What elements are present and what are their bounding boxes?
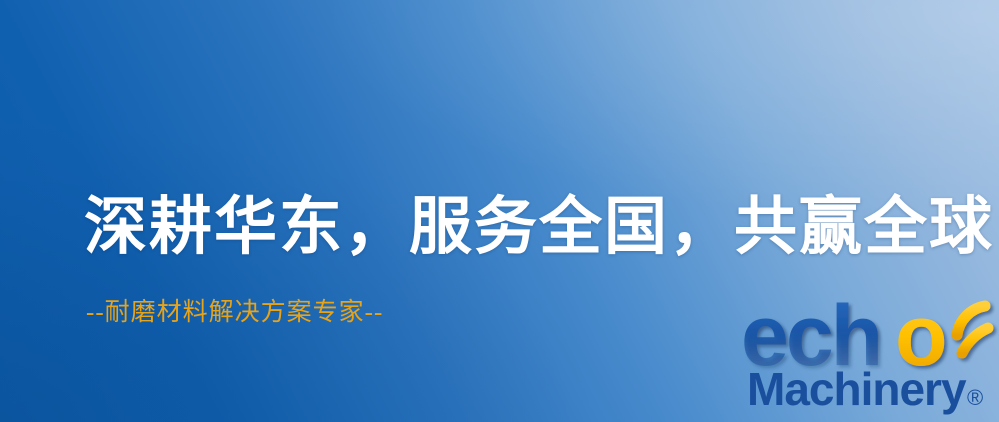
- promo-banner: 深耕华东，服务全国，共赢全球 --耐磨材料解决方案专家--: [0, 0, 999, 422]
- banner-headline: 深耕华东，服务全国，共赢全球: [84, 194, 994, 260]
- banner-subtitle: --耐磨材料解决方案专家--: [86, 292, 383, 328]
- signal-waves-icon: [957, 306, 988, 353]
- registered-trademark-icon: ®: [967, 385, 983, 410]
- logo-wordmark-machinery: Machinery: [747, 363, 967, 415]
- echo-machinery-logo[interactable]: ech o Machinery ®: [745, 287, 997, 422]
